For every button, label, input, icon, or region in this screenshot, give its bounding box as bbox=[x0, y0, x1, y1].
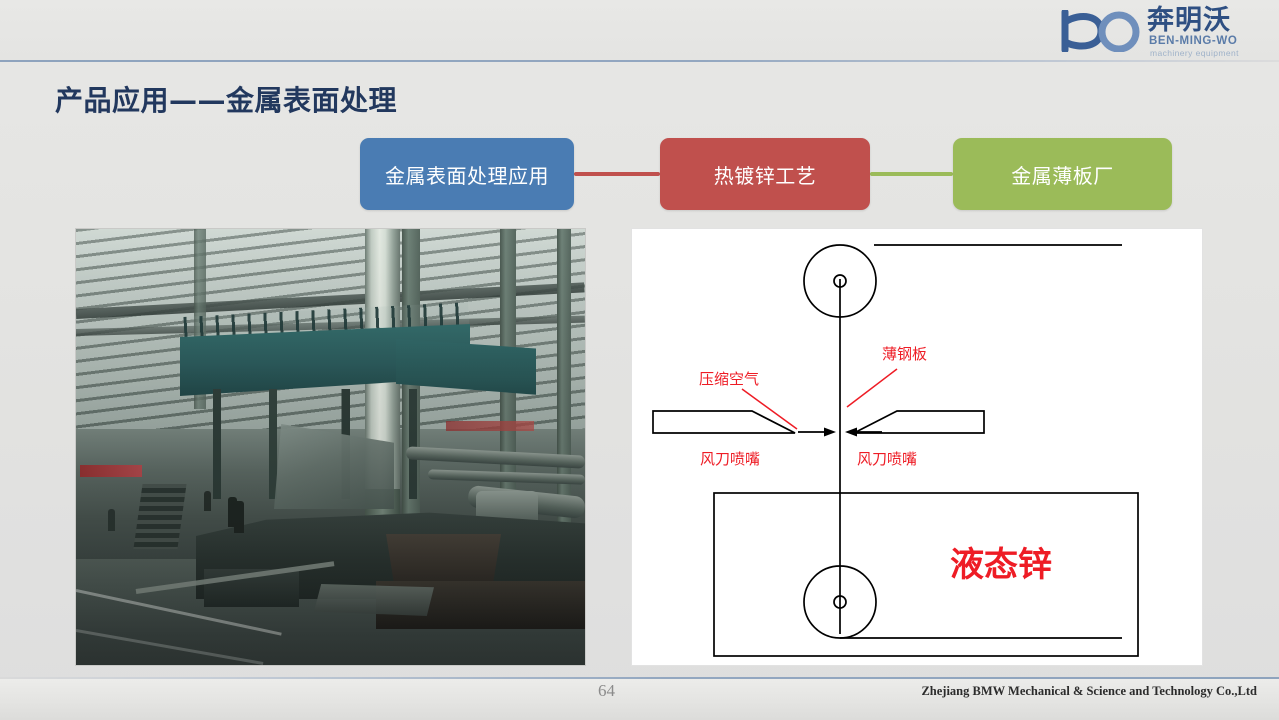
galvanizing-schematic-svg: 薄钢板 压缩空气 风刀喷嘴 风刀喷嘴 液态锌 bbox=[632, 229, 1202, 665]
flow-box-factory[interactable]: 金属薄板厂 bbox=[953, 138, 1172, 210]
header-divider bbox=[0, 60, 1279, 62]
label-compressed-air: 压缩空气 bbox=[699, 370, 759, 388]
label-air-knife-right: 风刀喷嘴 bbox=[857, 450, 917, 468]
label-air-knife-left: 风刀喷嘴 bbox=[700, 450, 760, 468]
page-title: 产品应用——金属表面处理 bbox=[55, 79, 397, 119]
footer-divider bbox=[0, 677, 1279, 679]
photo-color-tone bbox=[76, 229, 585, 665]
flow-box-process[interactable]: 热镀锌工艺 bbox=[660, 138, 870, 210]
logo-brand-en: BEN-MING-WO bbox=[1149, 35, 1237, 47]
company-logo: 奔明沃 BEN-MING-WO machinery equipment bbox=[1055, 4, 1267, 58]
page-number: 64 bbox=[598, 681, 615, 701]
flow-connector-2 bbox=[870, 172, 953, 176]
factory-photo bbox=[76, 229, 585, 665]
logo-brand-cn: 奔明沃 bbox=[1147, 6, 1231, 36]
footer-company-name: Zhejiang BMW Mechanical & Science and Te… bbox=[921, 684, 1257, 699]
logo-tagline: machinery equipment bbox=[1150, 48, 1239, 58]
flow-connector-1 bbox=[574, 172, 660, 176]
process-flow: 金属表面处理应用 热镀锌工艺 金属薄板厂 bbox=[360, 138, 1172, 210]
label-steel-strip: 薄钢板 bbox=[882, 345, 927, 363]
flow-box-application[interactable]: 金属表面处理应用 bbox=[360, 138, 574, 210]
bo-monogram-icon bbox=[1057, 10, 1149, 52]
label-molten-zinc: 液态锌 bbox=[950, 545, 1052, 585]
galvanizing-schematic: 薄钢板 压缩空气 风刀喷嘴 风刀喷嘴 液态锌 bbox=[632, 229, 1202, 665]
